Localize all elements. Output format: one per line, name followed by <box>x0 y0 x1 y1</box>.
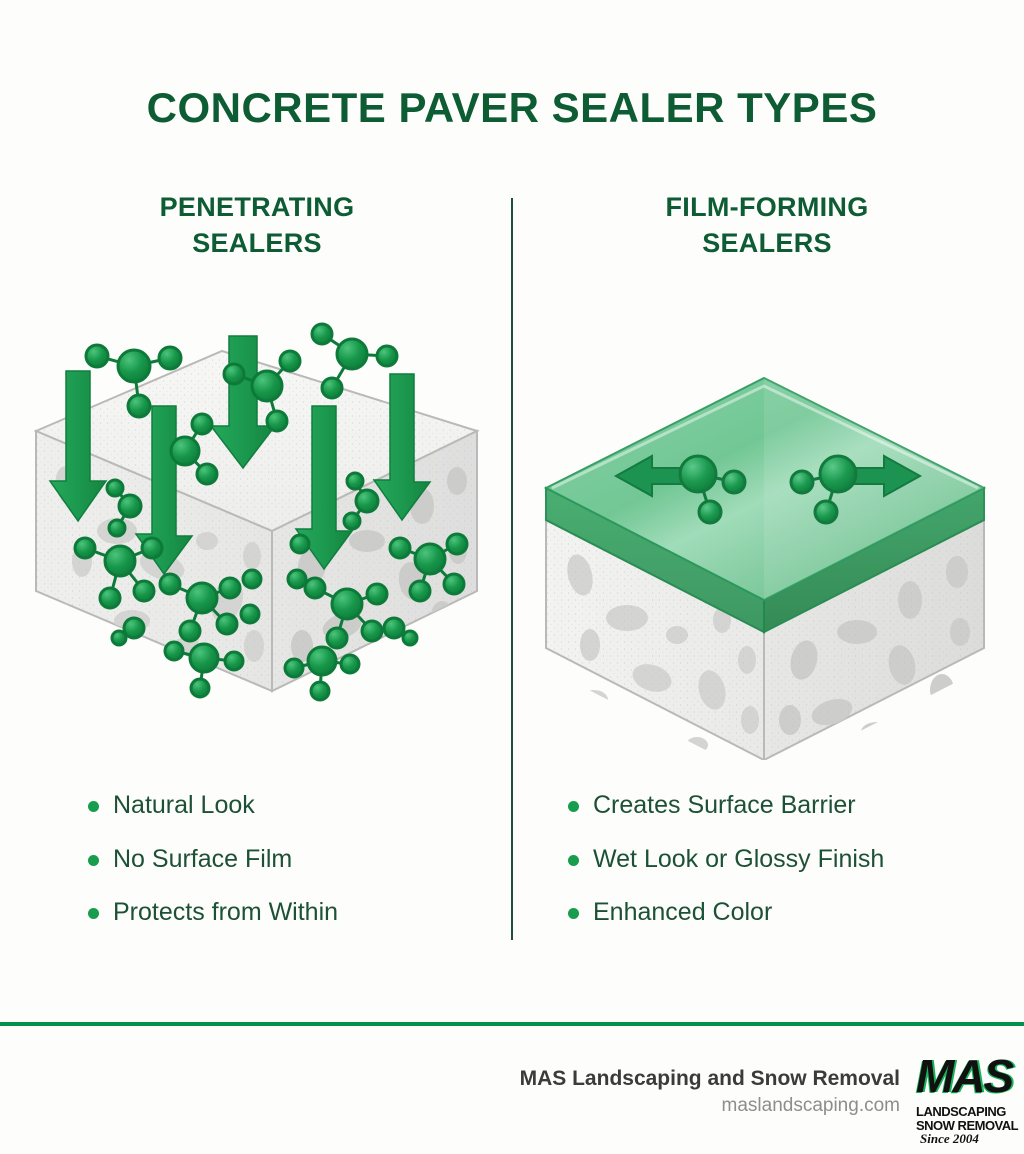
company-name: MAS Landscaping and Snow Removal <box>520 1066 900 1092</box>
list-item: Protects from Within <box>88 899 508 927</box>
molecule <box>312 324 397 398</box>
company-website[interactable]: maslandscaping.com <box>520 1094 900 1119</box>
column-penetrating: PENETRATING SEALERS <box>22 190 492 261</box>
list-item-label: Protects from Within <box>113 899 338 927</box>
column-divider <box>511 198 513 940</box>
bullet-list-penetrating: Natural Look No Surface Film Protects fr… <box>88 792 508 953</box>
list-item: Natural Look <box>88 792 508 820</box>
logo-tagline-1: LANDSCAPING <box>916 1104 1006 1119</box>
bullet-dot-icon <box>568 801 579 812</box>
logo-wordmark: MAS <box>916 1049 1012 1103</box>
bullet-dot-icon <box>568 908 579 919</box>
heading-line-1: PENETRATING <box>22 190 492 226</box>
penetrating-sealer-illustration <box>22 316 492 716</box>
column-film-forming: FILM-FORMING SEALERS <box>532 190 1002 261</box>
bullet-dot-icon <box>88 908 99 919</box>
list-item-label: Creates Surface Barrier <box>593 792 856 820</box>
page-title: CONCRETE PAVER SEALER TYPES <box>0 84 1024 132</box>
column-heading-film-forming: FILM-FORMING SEALERS <box>532 190 1002 261</box>
list-item-label: Wet Look or Glossy Finish <box>593 846 884 874</box>
bullet-list-film-forming: Creates Surface Barrier Wet Look or Glos… <box>568 792 1008 953</box>
list-item: No Surface Film <box>88 846 508 874</box>
list-item: Creates Surface Barrier <box>568 792 1008 820</box>
list-item-label: No Surface Film <box>113 846 292 874</box>
bullet-dot-icon <box>568 855 579 866</box>
bullet-dot-icon <box>88 855 99 866</box>
footer-brand-text: MAS Landscaping and Snow Removal masland… <box>520 1066 900 1119</box>
list-item-label: Enhanced Color <box>593 899 772 927</box>
mas-logo: MAS LANDSCAPING SNOW REMOVAL Since 2004 <box>914 1047 1024 1143</box>
heading-line-2: SEALERS <box>532 226 1002 262</box>
film-forming-sealer-illustration <box>532 360 1002 760</box>
list-item: Enhanced Color <box>568 899 1008 927</box>
column-heading-penetrating: PENETRATING SEALERS <box>22 190 492 261</box>
heading-line-2: SEALERS <box>22 226 492 262</box>
footer-divider-rule <box>0 1022 1024 1026</box>
logo-since-text: Since 2004 <box>920 1131 979 1143</box>
bullet-dot-icon <box>88 801 99 812</box>
infographic-page: CONCRETE PAVER SEALER TYPES PENETRATING … <box>0 0 1024 1154</box>
footer: MAS Landscaping and Snow Removal masland… <box>0 1048 1024 1154</box>
list-item: Wet Look or Glossy Finish <box>568 846 1008 874</box>
list-item-label: Natural Look <box>113 792 255 820</box>
heading-line-1: FILM-FORMING <box>532 190 1002 226</box>
